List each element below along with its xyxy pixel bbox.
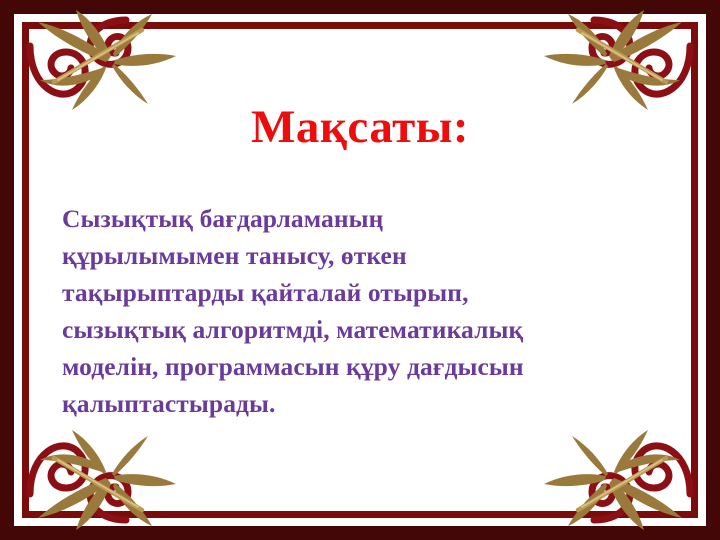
body-line: сызықтық алгоритмді, математикалық	[62, 311, 662, 348]
body-line: тақырыптарды қайталай отырып,	[62, 274, 662, 311]
body-line: құрылымымен танысу, өткен	[62, 237, 662, 274]
presentation-slide: Мақсаты: Сызықтық бағдарламаның құрылымы…	[0, 0, 720, 540]
body-line: моделін, программасын құру дағдысын	[62, 348, 662, 385]
slide-content: Мақсаты: Сызықтық бағдарламаның құрылымы…	[36, 36, 684, 504]
body-line: қалыптастырады.	[62, 385, 662, 422]
body-line: Сызықтық бағдарламаның	[62, 200, 662, 237]
slide-title: Мақсаты:	[36, 104, 684, 151]
slide-body: Сызықтық бағдарламаның құрылымымен таныс…	[62, 200, 662, 422]
